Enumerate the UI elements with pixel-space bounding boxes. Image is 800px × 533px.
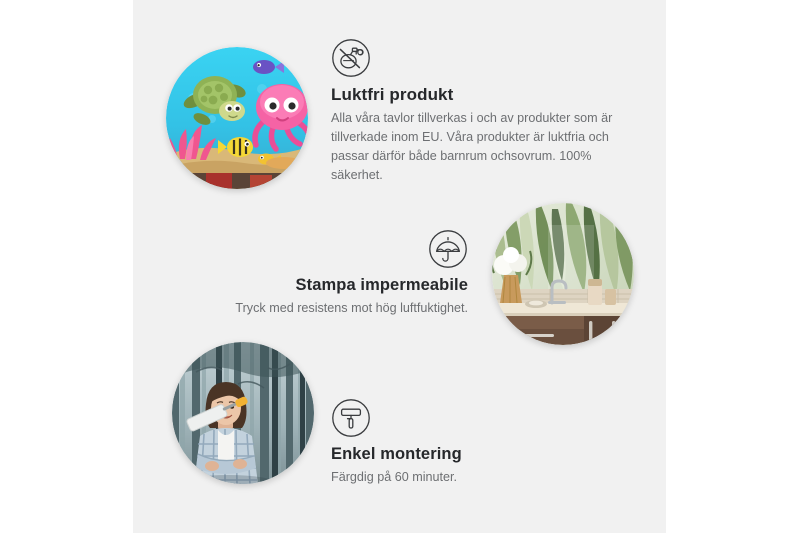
feature-odourless: Luktfri produkt Alla våra tavlor tillver… (331, 38, 623, 185)
feature-description: Tryck med resistens mot hög luftfuktighe… (216, 299, 468, 318)
no-fragrance-icon (331, 38, 371, 78)
photo-bathroom (492, 203, 634, 345)
infographic-canvas: Luktfri produkt Alla våra tavlor tillver… (0, 0, 800, 533)
feature-title: Stampa impermeabile (216, 276, 468, 295)
photo-forest (172, 342, 314, 484)
photo-underwater (166, 47, 308, 189)
feature-description: Alla våra tavlor tillverkas i och av pro… (331, 109, 623, 186)
paint-roller-icon (331, 398, 371, 438)
feature-title: Enkel montering (331, 445, 581, 464)
feature-title: Luktfri produkt (331, 85, 623, 105)
feature-waterproof: Stampa impermeabile Tryck med resistens … (216, 229, 468, 318)
umbrella-icon (428, 229, 468, 269)
feature-easy-mount: Enkel montering Färgdig på 60 minuter. (331, 398, 581, 487)
feature-description: Färgdig på 60 minuter. (331, 468, 581, 487)
